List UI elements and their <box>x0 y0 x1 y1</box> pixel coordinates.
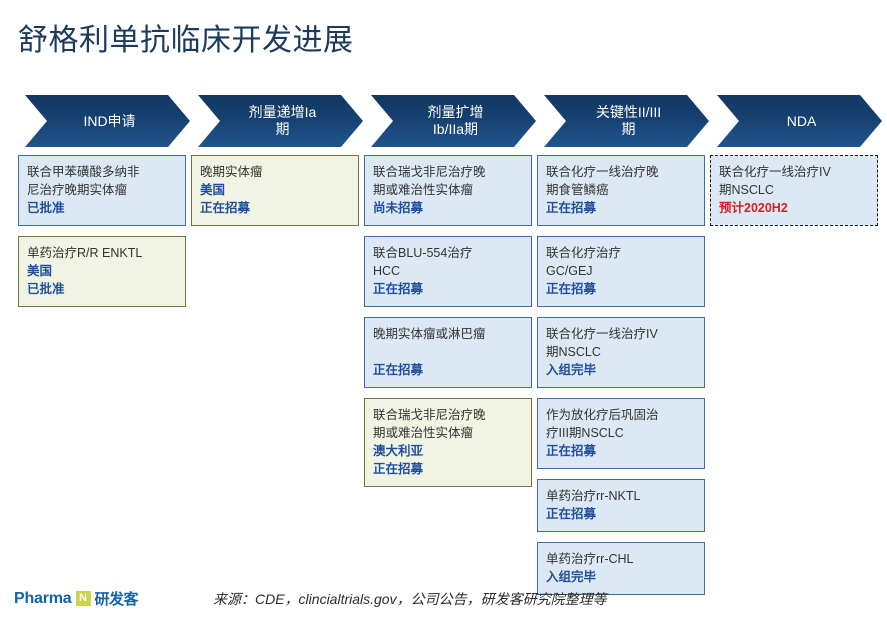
column-nda: 联合化疗一线治疗IV期NSCLC预计2020H2 <box>710 155 878 236</box>
trial-status-label: 正在招募 <box>546 442 696 460</box>
logo-wordmark: Pharma <box>14 590 72 608</box>
trial-description-line: 联合甲苯磺酸多纳非 <box>27 163 177 181</box>
source-note: 来源：CDE，clincialtrials.gov，公司公告，研发客研究院整理等 <box>213 589 607 609</box>
pipeline-columns: 联合甲苯磺酸多纳非尼治疗晚期实体瘤已批准单药治疗R/R ENKTL美国已批准晚期… <box>0 155 887 575</box>
page-title: 舒格利单抗临床开发进展 <box>18 18 354 64</box>
logo-n-badge-icon: N <box>76 591 91 606</box>
trial-card[interactable]: 联合化疗一线治疗IV期NSCLC入组完毕 <box>537 317 705 388</box>
trial-card[interactable]: 单药治疗R/R ENKTL美国已批准 <box>18 236 186 307</box>
trial-description-line: 联合瑞戈非尼治疗晚 <box>373 406 523 424</box>
stage-chevron-label: 剂量递增Ia 期 <box>249 104 317 138</box>
trial-status-label: 正在招募 <box>546 505 696 523</box>
trial-card[interactable]: 联合瑞戈非尼治疗晚期或难治性实体瘤尚未招募 <box>364 155 532 226</box>
logo-chinese-name: 研发客 <box>95 588 139 609</box>
trial-status-label: 正在招募 <box>546 199 696 217</box>
trial-description-line: 晚期实体瘤或淋巴瘤 <box>373 325 523 343</box>
trial-card[interactable]: 联合甲苯磺酸多纳非尼治疗晚期实体瘤已批准 <box>18 155 186 226</box>
trial-status-label: 正在招募 <box>373 460 523 478</box>
trial-description-line: GC/GEJ <box>546 262 696 280</box>
stage-chevron-5[interactable]: NDA <box>717 95 882 147</box>
trial-description-line: 尼治疗晚期实体瘤 <box>27 181 177 199</box>
stage-chevron-1[interactable]: IND申请 <box>25 95 190 147</box>
trial-description-line: 单药治疗rr-NKTL <box>546 487 696 505</box>
trial-status-label: 已批准 <box>27 199 177 217</box>
trial-description-line: 联合化疗治疗 <box>546 244 696 262</box>
trial-forecast-label: 预计2020H2 <box>719 199 869 217</box>
footer: Pharma N 研发客 来源：CDE，clincialtrials.gov，公… <box>0 578 887 630</box>
spacer-line <box>373 343 523 361</box>
trial-description-line: 期食管鳞癌 <box>546 181 696 199</box>
trial-description-line: 期NSCLC <box>546 343 696 361</box>
trial-description-line: 联合瑞戈非尼治疗晚 <box>373 163 523 181</box>
trial-card[interactable]: 联合BLU-554治疗HCC正在招募 <box>364 236 532 307</box>
trial-status-label: 已批准 <box>27 280 177 298</box>
trial-card[interactable]: 联合化疗一线治疗晚期食管鳞癌正在招募 <box>537 155 705 226</box>
stage-chevron-row: IND申请剂量递增Ia 期剂量扩增 Ib/IIa期关键性II/III 期NDA <box>0 95 887 150</box>
trial-description-line: 期NSCLC <box>719 181 869 199</box>
pharma-logo: Pharma N 研发客 <box>14 588 138 609</box>
stage-chevron-label: 关键性II/III 期 <box>596 104 661 138</box>
trial-card[interactable]: 晚期实体瘤或淋巴瘤正在招募 <box>364 317 532 388</box>
trial-card[interactable]: 单药治疗rr-NKTL正在招募 <box>537 479 705 532</box>
trial-description-line: 单药治疗rr-CHL <box>546 550 696 568</box>
stage-chevron-label: NDA <box>787 113 817 130</box>
trial-status-label: 尚未招募 <box>373 199 523 217</box>
trial-description-line: 联合化疗一线治疗IV <box>719 163 869 181</box>
trial-description-line: 联合化疗一线治疗晚 <box>546 163 696 181</box>
trial-status-label: 美国 <box>200 181 350 199</box>
column-dose-escalation-ia: 晚期实体瘤美国正在招募 <box>191 155 359 236</box>
trial-status-label: 正在招募 <box>546 280 696 298</box>
trial-status-label: 正在招募 <box>200 199 350 217</box>
trial-card[interactable]: 作为放化疗后巩固治疗III期NSCLC正在招募 <box>537 398 705 469</box>
trial-card[interactable]: 联合化疗一线治疗IV期NSCLC预计2020H2 <box>710 155 878 226</box>
stage-chevron-2[interactable]: 剂量递增Ia 期 <box>198 95 363 147</box>
trial-card[interactable]: 联合瑞戈非尼治疗晚期或难治性实体瘤澳大利亚正在招募 <box>364 398 532 487</box>
trial-description-line: 期或难治性实体瘤 <box>373 424 523 442</box>
trial-status-label: 澳大利亚 <box>373 442 523 460</box>
column-ind-application: 联合甲苯磺酸多纳非尼治疗晚期实体瘤已批准单药治疗R/R ENKTL美国已批准 <box>18 155 186 317</box>
stage-chevron-3[interactable]: 剂量扩增 Ib/IIa期 <box>371 95 536 147</box>
stage-chevron-4[interactable]: 关键性II/III 期 <box>544 95 709 147</box>
trial-description-line: 作为放化疗后巩固治 <box>546 406 696 424</box>
trial-status-label: 入组完毕 <box>546 361 696 379</box>
trial-status-label: 正在招募 <box>373 280 523 298</box>
trial-description-line: 联合BLU-554治疗 <box>373 244 523 262</box>
trial-description-line: 疗III期NSCLC <box>546 424 696 442</box>
stage-chevron-label: IND申请 <box>83 113 135 130</box>
trial-card[interactable]: 晚期实体瘤美国正在招募 <box>191 155 359 226</box>
trial-description-line: 晚期实体瘤 <box>200 163 350 181</box>
column-dose-expansion-ib-iia: 联合瑞戈非尼治疗晚期或难治性实体瘤尚未招募联合BLU-554治疗HCC正在招募晚… <box>364 155 532 497</box>
trial-status-label: 美国 <box>27 262 177 280</box>
trial-status-label: 正在招募 <box>373 361 523 379</box>
trial-description-line: 单药治疗R/R ENKTL <box>27 244 177 262</box>
trial-description-line: HCC <box>373 262 523 280</box>
column-pivotal-ii-iii: 联合化疗一线治疗晚期食管鳞癌正在招募联合化疗治疗GC/GEJ正在招募联合化疗一线… <box>537 155 705 605</box>
trial-description-line: 联合化疗一线治疗IV <box>546 325 696 343</box>
stage-chevron-label: 剂量扩增 Ib/IIa期 <box>428 104 484 138</box>
trial-card[interactable]: 联合化疗治疗GC/GEJ正在招募 <box>537 236 705 307</box>
trial-description-line: 期或难治性实体瘤 <box>373 181 523 199</box>
